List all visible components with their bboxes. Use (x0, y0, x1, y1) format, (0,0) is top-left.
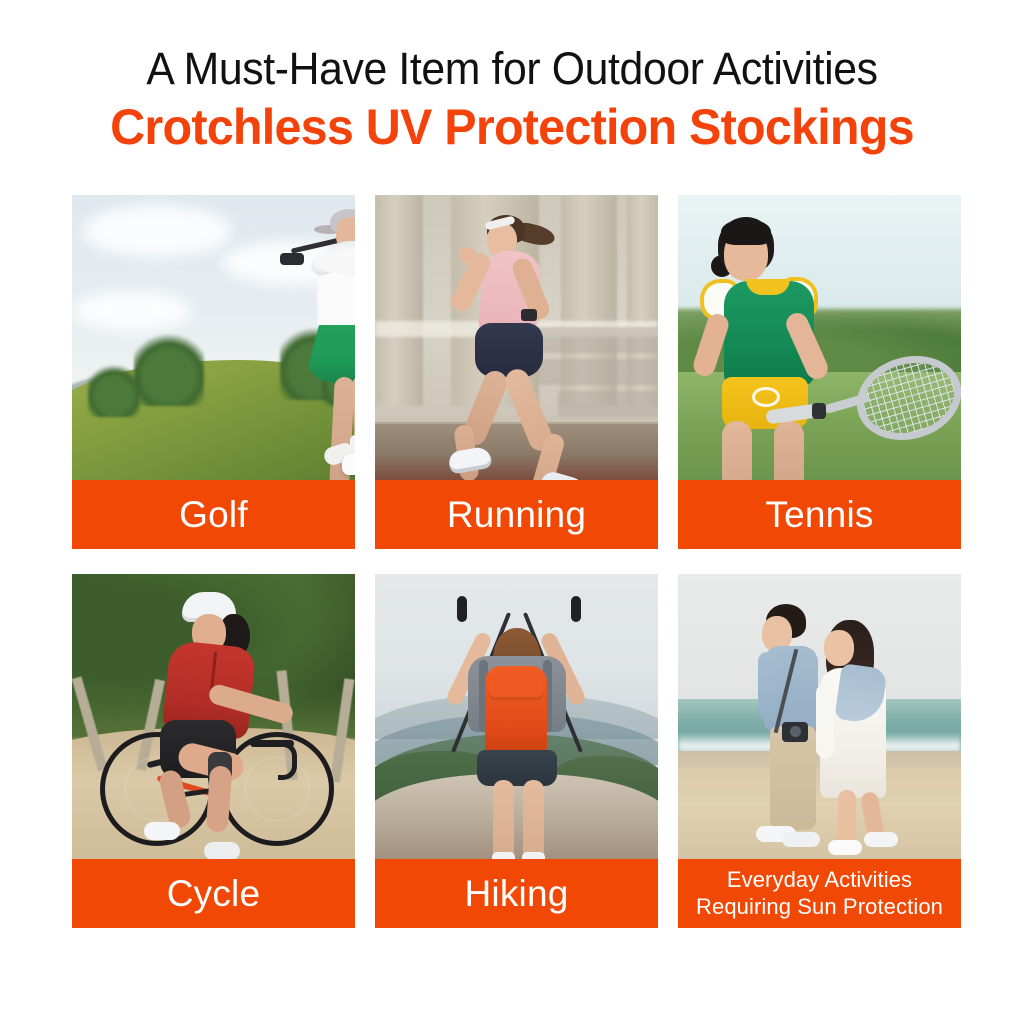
golf-photo (72, 195, 355, 480)
handlebar-drop (278, 742, 297, 780)
cycle-photo (72, 574, 355, 859)
leg-left (838, 790, 856, 846)
caption-line-1: Everyday Activities (696, 867, 943, 894)
pole-grip-left (457, 596, 467, 622)
hair-front (721, 219, 771, 245)
running-track (375, 424, 658, 480)
running-photo (375, 195, 658, 480)
shoe-right (782, 832, 820, 847)
tree-shape (88, 361, 140, 417)
golf-club-head (280, 253, 304, 265)
activity-card-hiking[interactable]: Hiking (375, 574, 658, 928)
caption-everyday-lines: Everyday Activities Requiring Sun Protec… (696, 867, 943, 921)
activity-card-golf[interactable]: Golf (72, 195, 355, 549)
shoe-front (204, 842, 240, 859)
shoe-front (342, 453, 356, 475)
sleeve (816, 684, 834, 758)
tennis-scene (678, 195, 961, 480)
caption-everyday: Everyday Activities Requiring Sun Protec… (678, 859, 961, 928)
racket-butt (812, 403, 826, 419)
shoe-left (828, 840, 862, 855)
activity-grid: Golf (72, 195, 962, 928)
caption-golf: Golf (72, 480, 355, 549)
caption-hiking: Hiking (375, 859, 658, 928)
caption-running: Running (375, 480, 658, 549)
golf-scene (72, 195, 355, 480)
tree-shape (134, 328, 204, 406)
backpack-lid (489, 670, 543, 700)
cycle-scene (72, 574, 355, 859)
cloud-shape (72, 291, 192, 331)
step-shape (558, 391, 658, 417)
shin-front (206, 765, 233, 832)
tennis-photo (678, 195, 961, 480)
everyday-photo (678, 574, 961, 859)
headline-product-name: Crotchless UV Protection Stockings (15, 99, 1008, 155)
sock-right (522, 852, 545, 859)
arm (758, 652, 776, 720)
leg-right (774, 421, 804, 480)
shoe-rear (144, 822, 180, 840)
pole-grip-right (571, 596, 581, 622)
skirt (477, 750, 557, 786)
step-shape (538, 359, 658, 385)
leg-left (493, 780, 514, 859)
caption-line-2: Requiring Sun Protection (696, 894, 943, 921)
caption-cycle: Cycle (72, 859, 355, 928)
beach-scene (678, 574, 961, 859)
running-scene (375, 195, 658, 480)
activity-card-tennis[interactable]: Tennis (678, 195, 961, 549)
drawstring (752, 387, 780, 407)
hiking-scene (375, 574, 658, 859)
activity-card-everyday[interactable]: Everyday Activities Requiring Sun Protec… (678, 574, 961, 928)
page-title: A Must-Have Item for Outdoor Activities … (0, 42, 1024, 155)
face (824, 630, 854, 666)
cloud-shape (82, 205, 232, 257)
sock-left (492, 852, 515, 859)
summit-rock (375, 774, 658, 860)
fist (459, 247, 476, 263)
activity-card-cycle[interactable]: Cycle (72, 574, 355, 928)
leg-right (523, 780, 544, 859)
activity-card-running[interactable]: Running (375, 195, 658, 549)
caption-tennis: Tennis (678, 480, 961, 549)
navy-shorts (475, 323, 543, 377)
fitness-watch (521, 309, 537, 321)
hiking-photo (375, 574, 658, 859)
bicycle-wheel-front (220, 732, 334, 846)
promo-poster: A Must-Have Item for Outdoor Activities … (0, 0, 1024, 1024)
headline-subtitle: A Must-Have Item for Outdoor Activities (26, 42, 999, 95)
leg-left (722, 421, 752, 480)
shoe-right (864, 832, 898, 847)
column-shape (375, 195, 423, 406)
camera-lens (790, 726, 801, 737)
